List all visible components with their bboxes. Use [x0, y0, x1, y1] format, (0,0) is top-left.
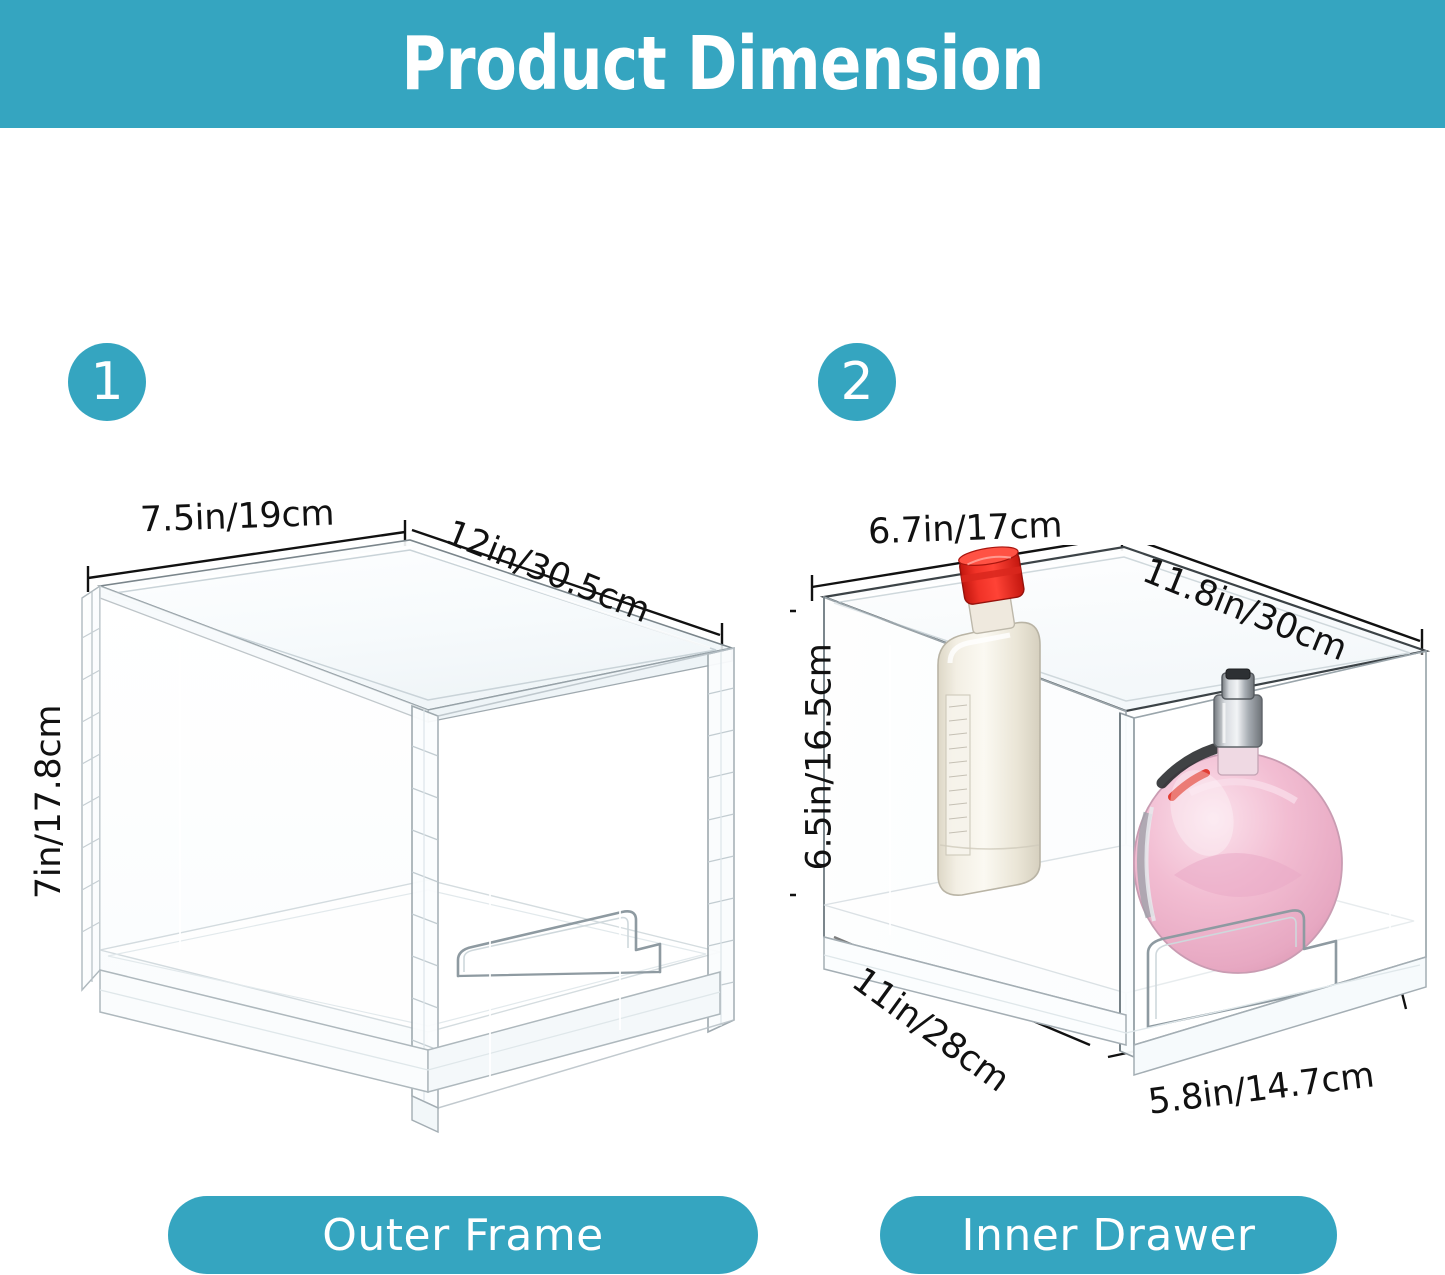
header-banner: Product Dimension	[0, 0, 1445, 128]
dimension-label-outer-height: 7in/17.8cm	[29, 705, 69, 899]
step-badge-2: 2	[818, 343, 896, 421]
dimension-label-inner-height: 6.5in/16.5cm	[800, 643, 840, 870]
dimension-label-outer-width: 7.5in/19cm	[139, 494, 335, 541]
caption-pill-outer-frame: Outer Frame	[168, 1196, 758, 1274]
caption-pill-inner-drawer: Inner Drawer	[880, 1196, 1337, 1274]
caption-pill-inner-drawer-label: Inner Drawer	[962, 1210, 1256, 1261]
caption-pill-outer-frame-label: Outer Frame	[322, 1210, 604, 1261]
step-badge-2-number: 2	[840, 356, 873, 408]
dimension-label-inner-width: 6.7in/17cm	[867, 506, 1063, 553]
step-badge-1: 1	[68, 343, 146, 421]
page-title: Product Dimension	[401, 27, 1043, 101]
step-badge-1-number: 1	[90, 356, 123, 408]
